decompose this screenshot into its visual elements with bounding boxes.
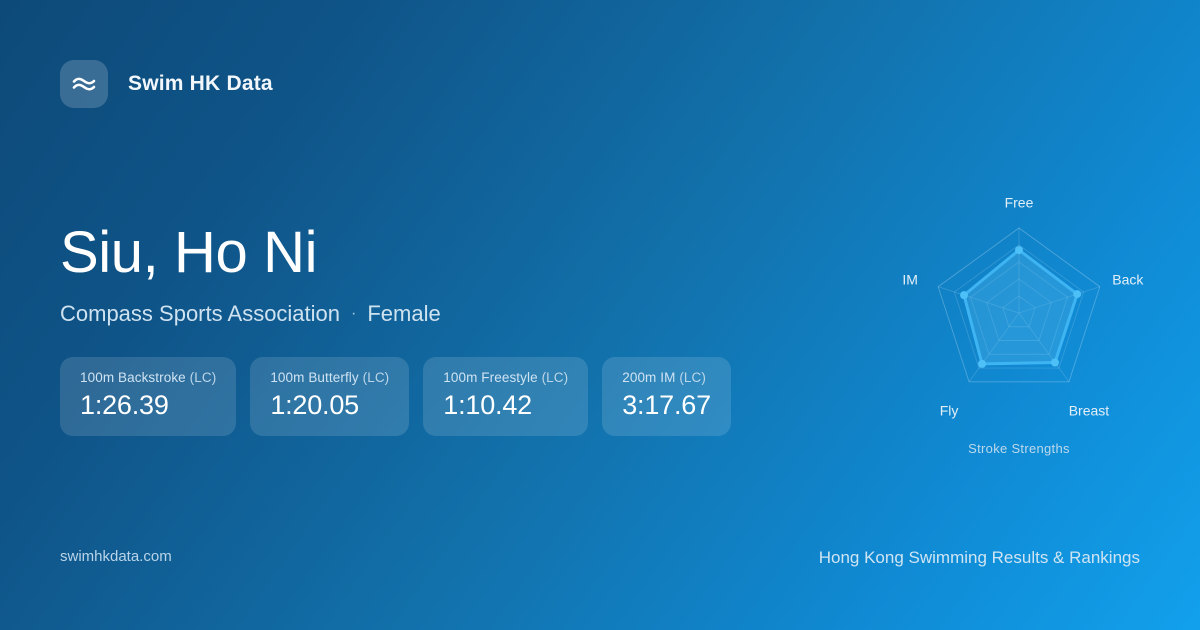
athlete-meta: Compass Sports Association · Female <box>60 301 441 327</box>
stat-course: (LC) <box>363 370 390 385</box>
stat-card: 100m Freestyle (LC) 1:10.42 <box>423 357 588 436</box>
stat-course: (LC) <box>190 370 217 385</box>
stat-label: 200m IM (LC) <box>622 370 711 385</box>
stat-event: 200m IM <box>622 370 675 385</box>
stroke-strengths-radar-chart: FreeBackBreastFlyIM <box>869 170 1169 470</box>
stat-card: 100m Backstroke (LC) 1:26.39 <box>60 357 236 436</box>
stat-card-list: 100m Backstroke (LC) 1:26.39 100m Butter… <box>60 357 731 436</box>
radar-axis-label: Back <box>1112 271 1144 287</box>
stat-course: (LC) <box>679 370 706 385</box>
stat-event: 100m Backstroke <box>80 370 186 385</box>
stat-event: 100m Butterfly <box>270 370 358 385</box>
stat-label: 100m Freestyle (LC) <box>443 370 568 385</box>
stat-event: 100m Freestyle <box>443 370 537 385</box>
radar-axis-label: Breast <box>1069 402 1110 418</box>
og-card: Swim HK Data Siu, Ho Ni Compass Sports A… <box>0 0 1200 630</box>
stat-label: 100m Butterfly (LC) <box>270 370 389 385</box>
athlete-club: Compass Sports Association <box>60 301 340 327</box>
stat-value: 1:26.39 <box>80 390 216 421</box>
footer-tagline: Hong Kong Swimming Results & Rankings <box>819 548 1140 568</box>
brand-name: Swim HK Data <box>128 72 273 96</box>
stat-value: 1:10.42 <box>443 390 568 421</box>
radar-axis-label: IM <box>902 271 918 287</box>
stat-course: (LC) <box>542 370 569 385</box>
stat-label: 100m Backstroke (LC) <box>80 370 216 385</box>
page-title: Siu, Ho Ni <box>60 222 441 283</box>
stat-card: 200m IM (LC) 3:17.67 <box>602 357 731 436</box>
stat-value: 1:20.05 <box>270 390 389 421</box>
stat-card: 100m Butterfly (LC) 1:20.05 <box>250 357 409 436</box>
radar-axis-label: Fly <box>940 402 959 418</box>
chart-caption: Stroke Strengths <box>869 441 1169 456</box>
meta-separator: · <box>351 305 356 323</box>
waves-icon <box>60 60 108 108</box>
stat-value: 3:17.67 <box>622 390 711 421</box>
footer-site: swimhkdata.com <box>60 548 172 565</box>
athlete-gender: Female <box>367 301 440 327</box>
brand: Swim HK Data <box>60 60 273 108</box>
radar-axis-label: Free <box>1005 195 1034 211</box>
hero: Siu, Ho Ni Compass Sports Association · … <box>60 222 441 327</box>
